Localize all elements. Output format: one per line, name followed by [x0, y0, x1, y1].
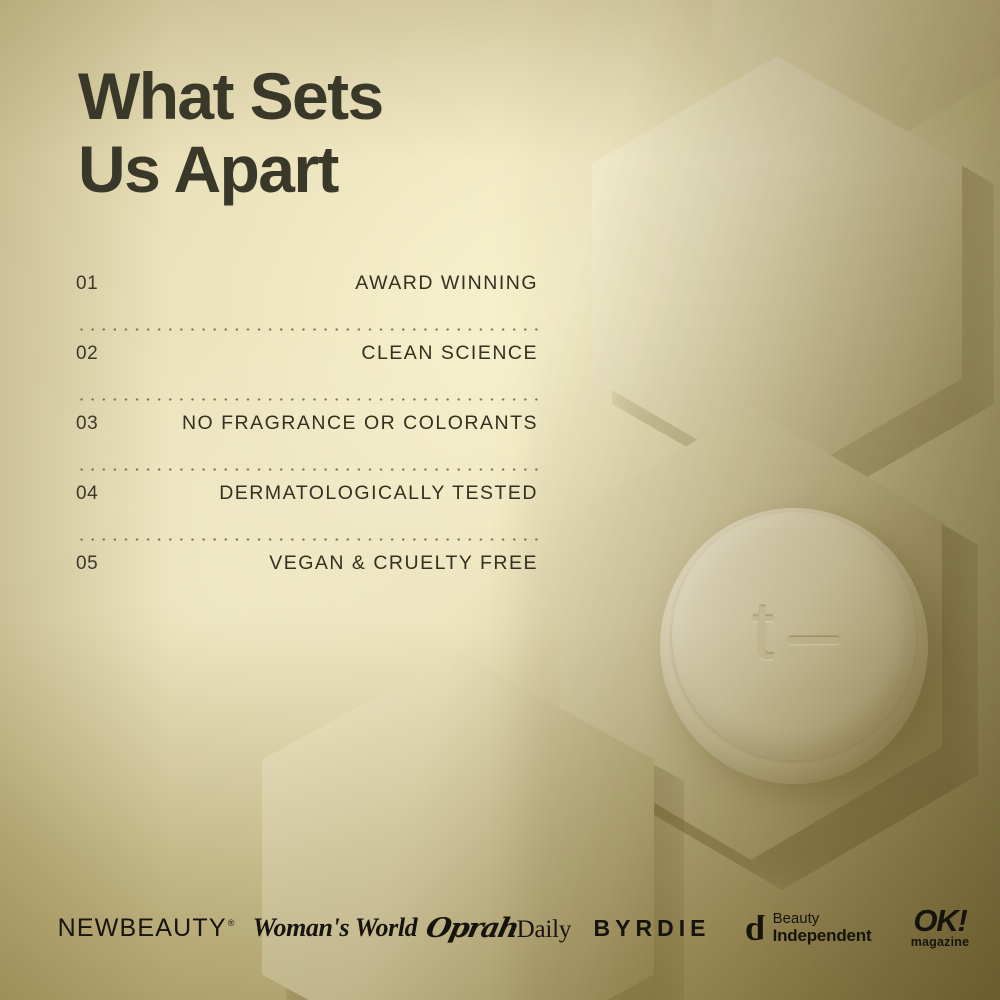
list-item-number: 02	[76, 343, 98, 365]
list-item-label: CLEAN SCIENCE	[361, 342, 538, 365]
list-item: 02 CLEAN SCIENCE	[76, 342, 538, 388]
press-logo-byrdie: BYRDIE	[576, 904, 728, 952]
dotted-divider	[76, 388, 538, 412]
promo-graphic: t What Sets Us Apart 01 AWARD WINNING 02…	[0, 0, 1000, 1000]
press-logo-bar: NEWBEAUTY® Woman's World Oprah Daily BYR…	[0, 898, 1000, 958]
press-logo-oprah-daily: Oprah Daily	[424, 904, 576, 952]
newbeauty-wordmark-text: NEWBEAUTY	[58, 914, 227, 942]
list-item: 05 VEGAN & CRUELTY FREE	[76, 552, 538, 598]
feature-list: 01 AWARD WINNING 02 CLEAN SCIENCE 03 NO …	[76, 272, 538, 598]
list-item-label: VEGAN & CRUELTY FREE	[269, 552, 538, 575]
list-item-number: 04	[76, 483, 98, 505]
ok-magazine-line2: magazine	[911, 937, 970, 949]
press-logo-beauty-independent: b Beauty Independent	[728, 904, 888, 952]
list-item-number: 05	[76, 553, 98, 575]
list-item-label: NO FRAGRANCE OR COLORANTS	[182, 412, 538, 435]
page-title: What Sets Us Apart	[78, 60, 383, 205]
list-item-label: AWARD WINNING	[355, 272, 538, 295]
ok-magazine-wordmark: OK! magazine	[911, 907, 970, 948]
list-item-label: DERMATOLOGICALLY TESTED	[219, 482, 538, 505]
list-item: 04 DERMATOLOGICALLY TESTED	[76, 482, 538, 528]
daily-serif-text: Daily	[517, 916, 572, 944]
press-logo-newbeauty: NEWBEAUTY®	[46, 904, 246, 952]
list-item: 03 NO FRAGRANCE OR COLORANTS	[76, 412, 538, 458]
womans-world-wordmark: Woman's World	[253, 913, 418, 943]
beauty-independent-line2: Independent	[773, 927, 872, 945]
ok-magazine-line1: OK!	[913, 907, 966, 936]
dotted-divider	[76, 528, 538, 552]
press-logo-womans-world: Woman's World	[246, 904, 424, 952]
list-item: 01 AWARD WINNING	[76, 272, 538, 318]
press-logo-ok-magazine: OK! magazine	[888, 904, 992, 952]
registered-trademark-icon: ®	[228, 918, 235, 928]
list-item-number: 03	[76, 413, 98, 435]
byrdie-wordmark: BYRDIE	[594, 915, 711, 942]
newbeauty-wordmark: NEWBEAUTY®	[58, 914, 235, 943]
beauty-independent-line1: Beauty	[773, 911, 872, 927]
oprah-script-text: Oprah	[423, 913, 520, 944]
dotted-divider	[76, 318, 538, 342]
oprah-daily-wordmark: Oprah Daily	[429, 913, 571, 944]
beauty-independent-wordmark: b Beauty Independent	[745, 911, 872, 944]
beauty-independent-b-mark-icon: b	[745, 913, 765, 944]
dotted-divider	[76, 458, 538, 482]
beauty-independent-text: Beauty Independent	[773, 911, 872, 944]
list-item-number: 01	[76, 273, 98, 295]
